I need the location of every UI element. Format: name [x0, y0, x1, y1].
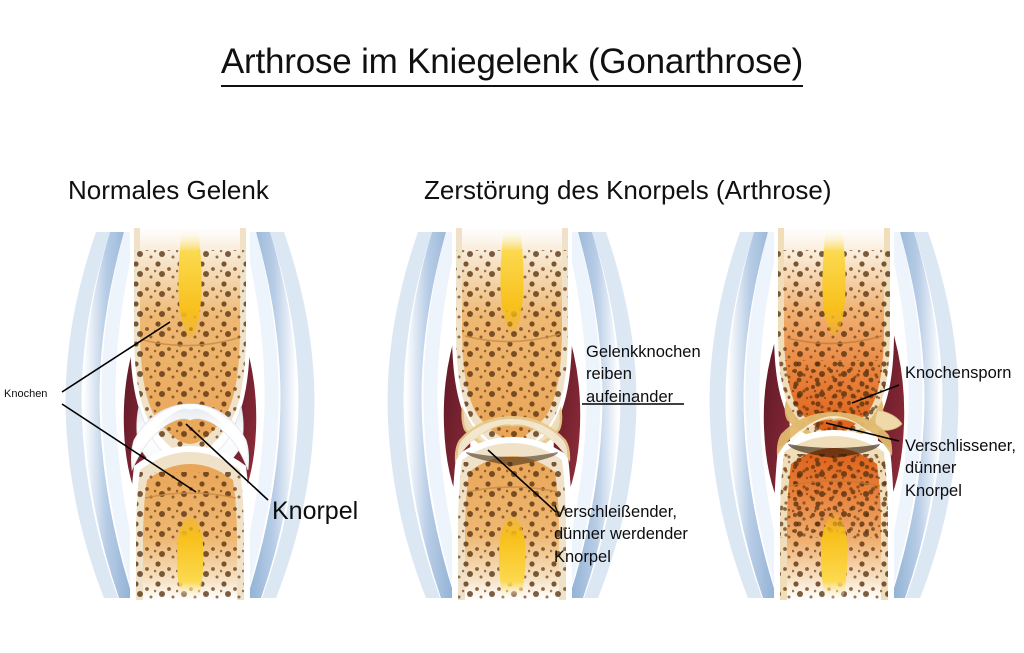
label-knorpel: Knorpel: [272, 494, 358, 528]
label-verschleissender-knorpel: Verschleißender, dünner werdender Knorpe…: [554, 501, 688, 568]
knee-diagram-normal: [62, 228, 314, 612]
label-verschlissener-knorpel: Verschlissener, dünner Knorpel: [905, 435, 1016, 502]
marrow-tibia: [499, 516, 526, 600]
label-gelenkknochen-reiben: Gelenkknochen reiben aufeinander: [586, 341, 701, 408]
knee-diagram-arthrose-severe: [710, 228, 959, 610]
illustration-page: Arthrose im Kniegelenk (Gonarthrose) Nor…: [0, 0, 1024, 653]
marrow-tibia: [177, 516, 204, 600]
label-knochen: Knochen: [4, 387, 47, 402]
knee-illustrations: [0, 0, 1024, 653]
marrow-tibia: [821, 514, 848, 600]
tibia-arthrose-severe: [774, 412, 894, 610]
label-knochensporn: Knochensporn: [905, 362, 1011, 384]
